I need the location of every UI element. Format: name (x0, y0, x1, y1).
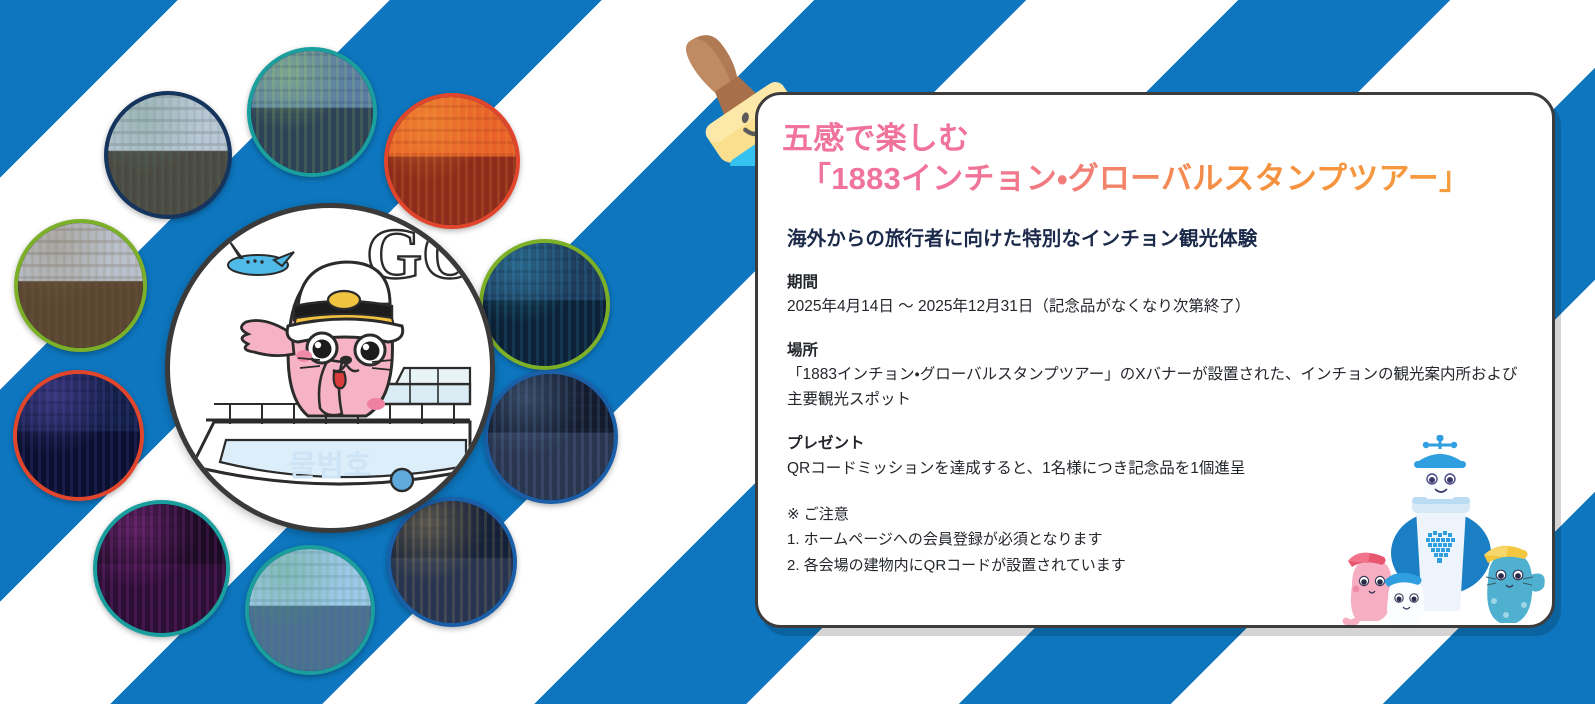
photo-rock-formation (14, 219, 147, 352)
section-body: 「1883インチョン・グローバルスタンプツアー」のXバナーが設置された、インチョ… (787, 362, 1522, 412)
photo-texture (97, 504, 226, 633)
photo-ferris-wheel-image (251, 51, 373, 173)
photo-fountain-skyline (13, 370, 144, 501)
photo-palace-pavilion (104, 91, 232, 219)
photo-texture (18, 223, 143, 348)
photo-umbrella-street (484, 370, 618, 504)
photo-harbor-sunset-image (388, 97, 516, 225)
seal-blue (1484, 546, 1545, 623)
photo-collage: GO (0, 0, 680, 704)
photo-fountain-skyline-image (17, 374, 140, 497)
photo-texture (249, 549, 371, 671)
title-line-1: 五感で楽しむ (782, 121, 969, 156)
photo-palace-pavilion-image (108, 95, 228, 215)
page-title: 五感で楽しむ 「1883インチョン・グローバルスタンプツアー」 (782, 119, 1522, 200)
section-body: 2025年4月14日 〜 2025年12月31日（記念品がなくなり次第終了） (787, 294, 1522, 319)
photo-night-waterfront (387, 497, 517, 627)
section-heading: 期間 (787, 271, 1522, 294)
photo-canal-city-image (249, 549, 371, 671)
photo-ferris-wheel (247, 47, 377, 177)
mascot-hero-circle: GO (165, 203, 495, 533)
photo-texture (108, 95, 228, 215)
section-heading: 場所 (787, 339, 1522, 362)
photo-night-boats (479, 239, 610, 370)
photo-festival-lights (93, 500, 230, 637)
photo-umbrella-street-image (488, 374, 614, 500)
poster-root: GO (0, 0, 1595, 704)
photo-texture (391, 501, 513, 623)
info-card: 五感で楽しむ 「1883インチョン・グローバルスタンプツアー」 海外からの旅行者… (755, 92, 1555, 628)
airplane-icon (228, 242, 294, 275)
info-section: 場所「1883インチョン・グローバルスタンプツアー」のXバナーが設置された、イン… (787, 339, 1522, 412)
photo-texture (483, 243, 606, 366)
seal-pink (1346, 553, 1392, 623)
photo-texture (488, 374, 614, 500)
lighthouse-and-seals-illustration (1338, 435, 1548, 625)
photo-night-boats-image (483, 243, 606, 366)
photo-texture (17, 374, 140, 497)
photo-texture (251, 51, 373, 173)
ship-name-text: 물범호 (289, 450, 372, 483)
page-subtitle: 海外からの旅行者に向けた特別なインチョン観光体験 (787, 222, 1522, 251)
seal-white (1384, 573, 1424, 625)
photo-canal-city (245, 545, 375, 675)
photo-night-waterfront-image (391, 501, 513, 623)
seal-captain-ship-illustration: GO (170, 208, 490, 528)
photo-harbor-sunset (384, 93, 520, 229)
seal-captain (241, 262, 402, 416)
photo-rock-formation-image (18, 223, 143, 348)
info-section: 期間2025年4月14日 〜 2025年12月31日（記念品がなくなり次第終了） (787, 271, 1522, 319)
photo-festival-lights-image (97, 504, 226, 633)
photo-texture (388, 97, 516, 225)
title-line-2: 「1883インチョン・グローバルスタンプツアー」 (782, 159, 1522, 199)
